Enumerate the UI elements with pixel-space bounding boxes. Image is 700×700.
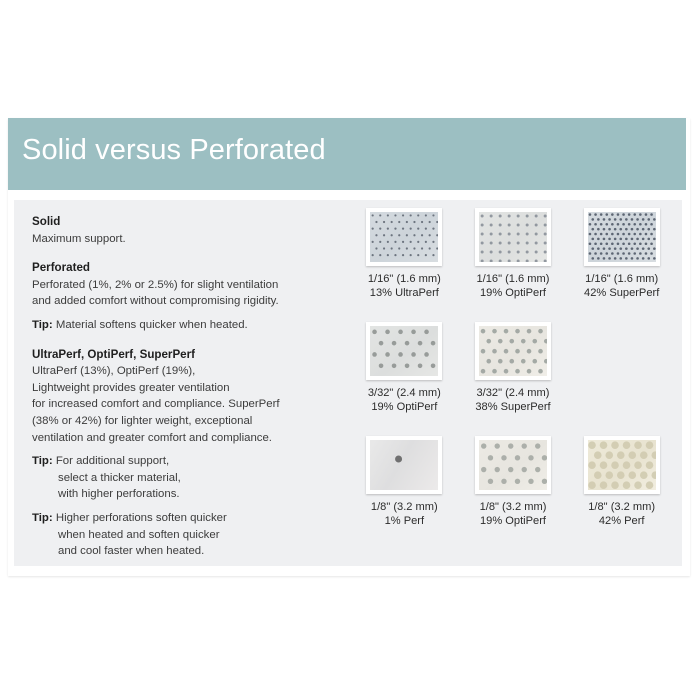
tip-line: when heated and soften quicker (32, 527, 342, 544)
swatch-caption: 3/32" (2.4 mm)19% OptiPerf (368, 386, 441, 415)
perforation-pattern (479, 212, 547, 262)
spacer (32, 503, 342, 510)
page-root: Solid versus Perforated SolidMaximum sup… (0, 0, 700, 700)
swatch-caption: 1/8" (3.2 mm)1% Perf (371, 500, 438, 529)
swatch-cell[interactable]: 1/8" (3.2 mm)1% Perf (350, 436, 459, 550)
perforation-pattern (588, 440, 656, 490)
spacer (32, 310, 342, 317)
swatch-caption: 1/16" (1.6 mm)42% SuperPerf (584, 272, 659, 301)
perforation-pattern (588, 212, 656, 262)
tip-label: Tip: (32, 319, 56, 331)
swatch-frame[interactable] (366, 208, 442, 266)
swatch-cell[interactable]: 1/16" (1.6 mm)13% UltraPerf (350, 208, 459, 322)
perforation-pattern (370, 326, 438, 376)
perforation-pattern (479, 326, 547, 376)
description-block: UltraPerf, OptiPerf, SuperPerfUltraPerf … (32, 347, 342, 560)
swatch-perf-label: 1% Perf (371, 514, 438, 528)
page-title: Solid versus Perforated (22, 134, 326, 167)
swatch-cell[interactable]: 3/32" (2.4 mm)19% OptiPerf (350, 322, 459, 436)
tip: Tip: For additional support,select a thi… (32, 453, 342, 503)
swatch-caption: 1/16" (1.6 mm)13% UltraPerf (368, 272, 441, 301)
block-line: ventilation and greater comfort and comp… (32, 430, 342, 447)
swatch-caption: 1/8" (3.2 mm)19% OptiPerf (480, 500, 547, 529)
material-swatch-image (370, 212, 438, 262)
swatch-size-label: 1/16" (1.6 mm) (477, 272, 550, 286)
swatch-caption: 1/16" (1.6 mm)19% OptiPerf (477, 272, 550, 301)
swatch-frame[interactable] (366, 322, 442, 380)
material-swatch-image (588, 212, 656, 262)
card-header-bar: Solid versus Perforated (8, 118, 686, 190)
tip: Tip: Higher perforations soften quickerw… (32, 510, 342, 560)
perforation-pattern (479, 440, 547, 490)
swatch-frame[interactable] (584, 436, 660, 494)
spacer (32, 446, 342, 453)
description-block: SolidMaximum support. (32, 214, 342, 247)
swatch-frame[interactable] (475, 208, 551, 266)
swatch-size-label: 3/32" (2.4 mm) (475, 386, 550, 400)
swatch-row: 1/16" (1.6 mm)13% UltraPerf1/16" (1.6 mm… (350, 208, 676, 322)
swatch-cell[interactable]: 1/16" (1.6 mm)42% SuperPerf (567, 208, 676, 322)
block-line: Perforated (1%, 2% or 2.5%) for slight v… (32, 277, 342, 294)
card-body: SolidMaximum support.PerforatedPerforate… (14, 200, 682, 566)
swatch-caption: 1/8" (3.2 mm)42% Perf (588, 500, 655, 529)
swatch-perf-label: 38% SuperPerf (475, 400, 550, 414)
block-line: and added comfort without compromising r… (32, 293, 342, 310)
material-swatch-image (479, 212, 547, 262)
block-line: UltraPerf (13%), OptiPerf (19%), (32, 363, 342, 380)
description-column: SolidMaximum support.PerforatedPerforate… (32, 214, 342, 560)
material-swatch-image (479, 326, 547, 376)
swatch-perf-label: 19% OptiPerf (480, 514, 547, 528)
material-swatch-image (479, 440, 547, 490)
tip-label: Tip: (32, 455, 56, 467)
swatch-cell[interactable]: 1/8" (3.2 mm)42% Perf (567, 436, 676, 550)
tip-line: Material softens quicker when heated. (56, 319, 248, 331)
tip-line: with higher perforations. (32, 486, 342, 503)
swatch-row: 1/8" (3.2 mm)1% Perf1/8" (3.2 mm)19% Opt… (350, 436, 676, 550)
swatch-size-label: 1/16" (1.6 mm) (368, 272, 441, 286)
block-line: Lightweight provides greater ventilation (32, 380, 342, 397)
tip-line: select a thicker material, (32, 470, 342, 487)
block-line: for increased comfort and compliance. Su… (32, 396, 342, 413)
swatch-cell[interactable]: 1/16" (1.6 mm)19% OptiPerf (459, 208, 568, 322)
block-line: (38% or 42%) for lighter weight, excepti… (32, 413, 342, 430)
tip-line: Higher perforations soften quicker (56, 512, 227, 524)
swatch-size-label: 1/8" (3.2 mm) (588, 500, 655, 514)
tip-line: and cool faster when heated. (32, 543, 342, 560)
swatch-perf-label: 19% OptiPerf (368, 400, 441, 414)
swatch-frame[interactable] (475, 436, 551, 494)
swatch-cell[interactable]: 1/8" (3.2 mm)19% OptiPerf (459, 436, 568, 550)
material-swatch-image (370, 440, 438, 490)
swatch-perf-label: 19% OptiPerf (477, 286, 550, 300)
perforation-pattern (370, 440, 438, 490)
block-line: Maximum support. (32, 231, 342, 248)
material-swatch-image (370, 326, 438, 376)
block-heading: UltraPerf, OptiPerf, SuperPerf (32, 347, 342, 364)
tip: Tip: Material softens quicker when heate… (32, 317, 342, 334)
material-swatch-image (588, 440, 656, 490)
swatch-frame[interactable] (584, 208, 660, 266)
solid-versus-perforated-card: Solid versus Perforated SolidMaximum sup… (8, 118, 690, 576)
swatch-grid: 1/16" (1.6 mm)13% UltraPerf1/16" (1.6 mm… (350, 208, 676, 550)
swatch-size-label: 3/32" (2.4 mm) (368, 386, 441, 400)
swatch-size-label: 1/8" (3.2 mm) (480, 500, 547, 514)
swatch-size-label: 1/16" (1.6 mm) (584, 272, 659, 286)
perforation-pattern (370, 212, 438, 262)
block-heading: Solid (32, 214, 342, 231)
tip-label: Tip: (32, 512, 56, 524)
swatch-row: 3/32" (2.4 mm)19% OptiPerf3/32" (2.4 mm)… (350, 322, 676, 436)
tip-line: For additional support, (56, 455, 169, 467)
swatch-frame[interactable] (366, 436, 442, 494)
swatch-perf-label: 13% UltraPerf (368, 286, 441, 300)
swatch-frame[interactable] (475, 322, 551, 380)
block-heading: Perforated (32, 260, 342, 277)
swatch-caption: 3/32" (2.4 mm)38% SuperPerf (475, 386, 550, 415)
swatch-cell[interactable]: 3/32" (2.4 mm)38% SuperPerf (459, 322, 568, 436)
description-block: PerforatedPerforated (1%, 2% or 2.5%) fo… (32, 260, 342, 333)
swatch-perf-label: 42% Perf (588, 514, 655, 528)
swatch-size-label: 1/8" (3.2 mm) (371, 500, 438, 514)
swatch-perf-label: 42% SuperPerf (584, 286, 659, 300)
